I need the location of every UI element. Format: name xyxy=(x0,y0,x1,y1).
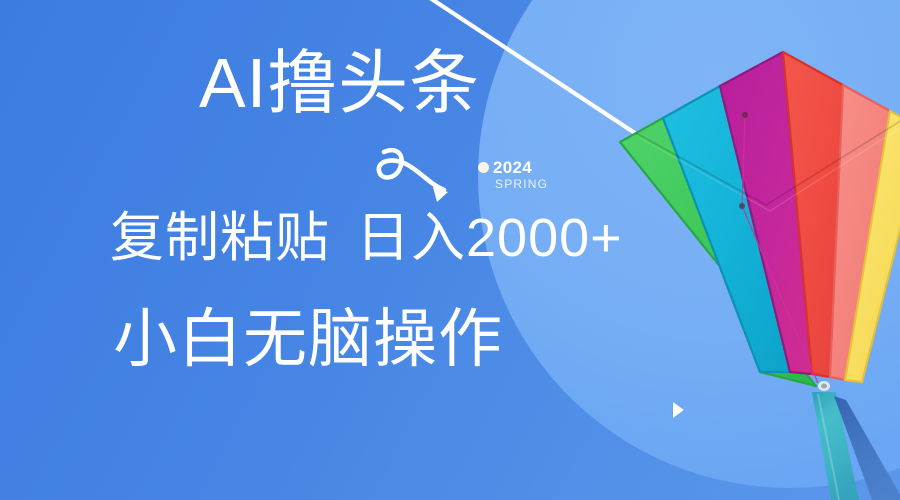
subtitle-line-1: 复制粘贴日入2000+ xyxy=(110,211,623,265)
text-block: AI撸头条 2024 SPRING 复制粘贴日入2000+ 小白无脑操作 xyxy=(0,0,900,500)
page-title: AI撸头条 xyxy=(199,48,480,118)
badge-year: 2024 xyxy=(493,159,532,176)
badge-dot-icon xyxy=(478,162,489,173)
subtitle-line-2: 小白无脑操作 xyxy=(113,307,503,371)
season-badge: 2024 SPRING xyxy=(478,158,588,190)
subtitle-phrase-daily-income: 日入2000+ xyxy=(356,208,623,268)
subtitle-phrase-copy-paste: 复制粘贴 xyxy=(110,208,330,268)
play-triangle-icon[interactable] xyxy=(673,402,684,418)
badge-season: SPRING xyxy=(495,178,588,190)
promo-banner: AI撸头条 2024 SPRING 复制粘贴日入2000+ 小白无脑操作 xyxy=(0,0,900,500)
curly-arrow-icon xyxy=(372,140,472,210)
